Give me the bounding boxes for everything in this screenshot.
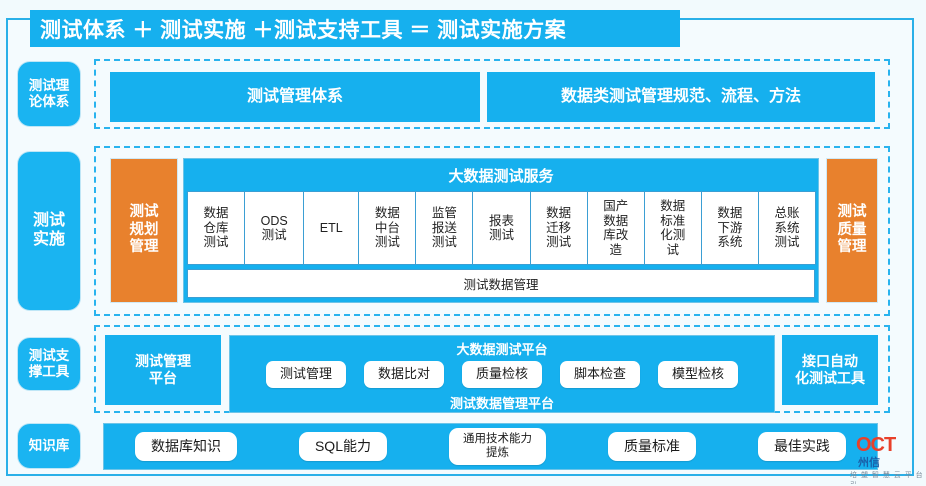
sidebar-item-execution-label: 测试实施	[33, 212, 65, 250]
big-data-test-service-group: 大数据测试服务 数据仓库测试 ODS测试 ETL 数据中台测试 监管报送测试 报…	[183, 158, 819, 303]
support-panel-api-automation-tool-label: 接口自动化测试工具	[795, 353, 865, 387]
knowledge-item-quality-standard[interactable]: 质量标准	[608, 432, 696, 460]
service-cell-label: 总账系统测试	[774, 206, 799, 250]
knowledge-item-database[interactable]: 数据库知识	[135, 432, 237, 460]
service-cell-label: 数据下游系统	[717, 206, 742, 250]
service-cell-label: ODS测试	[261, 214, 288, 243]
big-data-test-platform-group: 大数据测试平台 测试管理 数据比对 质量检核 脚本检查 模型检核 测试数据管理平…	[229, 335, 775, 413]
service-cell[interactable]: 数据中台测试	[358, 191, 416, 265]
page-title: 测试体系 ＋ 测试实施 ＋测试支持工具 ＝ 测试实施方案	[30, 10, 680, 47]
platform-button-data-compare[interactable]: 数据比对	[364, 361, 444, 388]
knowledge-item-best-practice[interactable]: 最佳实践	[758, 432, 846, 460]
theory-block-management-system[interactable]: 测试管理体系	[110, 72, 480, 122]
theory-block-data-spec-label: 数据类测试管理规范、流程、方法	[561, 87, 801, 106]
big-data-test-service-cells: 数据仓库测试 ODS测试 ETL 数据中台测试 监管报送测试 报表测试 数据迁移…	[187, 191, 815, 265]
test-data-management-bar[interactable]: 测试数据管理	[187, 269, 815, 298]
knowledge-item-label: 数据库知识	[151, 438, 221, 454]
platform-button-model-check[interactable]: 模型检核	[658, 361, 738, 388]
knowledge-item-label: 最佳实践	[774, 438, 830, 454]
knowledge-item-general-tech[interactable]: 通用技术能力提炼	[449, 428, 546, 464]
big-data-test-platform-buttons: 测试管理 数据比对 质量检核 脚本检查 模型检核	[266, 360, 738, 388]
service-cell[interactable]: 数据标准化测试	[644, 191, 702, 265]
service-cell-label: ETL	[320, 221, 343, 236]
platform-button-script-check[interactable]: 脚本检查	[560, 361, 640, 388]
support-panel-api-automation-tool[interactable]: 接口自动化测试工具	[782, 335, 878, 405]
platform-button-label: 测试管理	[280, 366, 332, 381]
support-panel-test-management-platform[interactable]: 测试管理平台	[105, 335, 221, 405]
support-panel-test-management-platform-label: 测试管理平台	[135, 353, 191, 387]
knowledge-base-group: 数据库知识 SQL能力 通用技术能力提炼 质量标准 最佳实践	[103, 423, 878, 470]
knowledge-item-label: 质量标准	[624, 438, 680, 454]
execution-panel-test-planning[interactable]: 测试规划管理	[110, 158, 178, 303]
execution-panel-test-planning-label: 测试规划管理	[130, 204, 159, 257]
theory-block-data-spec[interactable]: 数据类测试管理规范、流程、方法	[487, 72, 875, 122]
sidebar-item-support-tools[interactable]: 测试支撑工具	[18, 338, 80, 390]
sidebar-item-execution[interactable]: 测试实施	[18, 152, 80, 310]
service-cell[interactable]: 数据迁移测试	[530, 191, 588, 265]
service-cell-label: 数据迁移测试	[546, 206, 571, 250]
service-cell[interactable]: ETL	[303, 191, 359, 265]
execution-panel-quality-management-label: 测试质量管理	[838, 204, 867, 257]
service-cell[interactable]: 数据仓库测试	[187, 191, 245, 265]
diagram-canvas: 测试体系 ＋ 测试实施 ＋测试支持工具 ＝ 测试实施方案 测试理论体系 测试管理…	[0, 0, 926, 486]
sidebar-item-theory[interactable]: 测试理论体系	[18, 62, 80, 126]
sidebar-item-theory-label: 测试理论体系	[29, 78, 70, 110]
knowledge-item-label: 通用技术能力提炼	[463, 433, 532, 458]
platform-button-label: 质量检核	[476, 366, 528, 381]
sidebar-item-support-tools-label: 测试支撑工具	[29, 348, 70, 380]
platform-button-label: 数据比对	[378, 366, 430, 381]
knowledge-item-label: SQL能力	[315, 438, 371, 454]
execution-panel-quality-management[interactable]: 测试质量管理	[826, 158, 878, 303]
service-cell[interactable]: 监管报送测试	[415, 191, 473, 265]
service-cell[interactable]: 国产数据库改造	[587, 191, 645, 265]
service-cell-label: 数据仓库测试	[204, 206, 229, 250]
theory-block-management-system-label: 测试管理体系	[247, 87, 343, 106]
service-cell-label: 数据中台测试	[375, 206, 400, 250]
knowledge-item-sql[interactable]: SQL能力	[299, 432, 387, 460]
test-data-management-label: 测试数据管理	[463, 274, 538, 293]
big-data-test-service-title: 大数据测试服务	[184, 159, 818, 191]
service-cell-label: 监管报送测试	[432, 206, 457, 250]
platform-button-quality-check[interactable]: 质量检核	[462, 361, 542, 388]
sidebar-item-knowledge-base-label: 知识库	[29, 438, 70, 454]
test-data-management-platform-label: 测试数据管理平台	[450, 388, 554, 415]
platform-button-test-management[interactable]: 测试管理	[266, 361, 346, 388]
service-cell[interactable]: ODS测试	[244, 191, 304, 265]
platform-button-label: 脚本检查	[574, 366, 626, 381]
service-cell[interactable]: 总账系统测试	[758, 191, 816, 265]
service-cell-label: 国产数据库改造	[603, 199, 628, 257]
platform-button-label: 模型检核	[672, 366, 724, 381]
big-data-test-platform-title: 大数据测试平台	[456, 336, 547, 360]
service-cell-label: 数据标准化测试	[660, 199, 685, 257]
service-cell[interactable]: 数据下游系统	[701, 191, 759, 265]
sidebar-item-knowledge-base[interactable]: 知识库	[18, 424, 80, 468]
service-cell-label: 报表测试	[489, 214, 514, 243]
service-cell[interactable]: 报表测试	[472, 191, 530, 265]
